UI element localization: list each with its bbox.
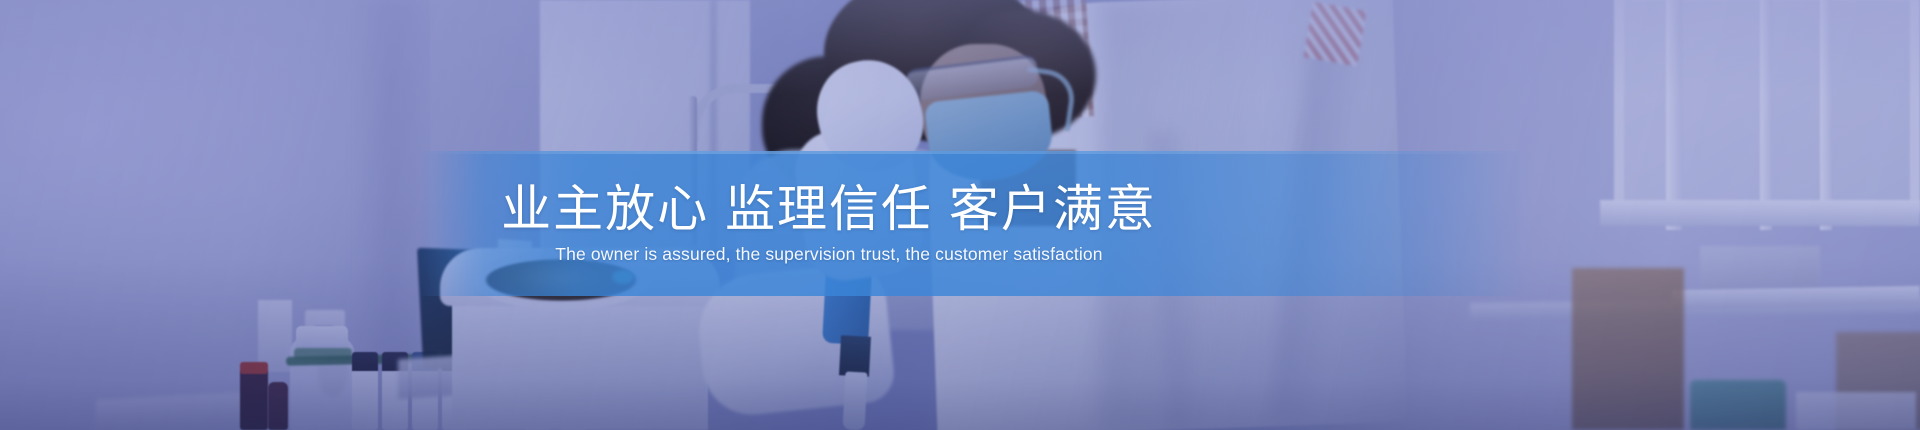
banner-copy: 业主放心 监理信任 客户满意 The owner is assured, the… [0,151,1789,296]
banner-headline: 业主放心 监理信任 客户满意 [501,183,1157,235]
hero-banner: 业主放心 监理信任 客户满意 The owner is assured, the… [0,0,1920,430]
banner-subheadline: The owner is assured, the supervision tr… [555,244,1102,265]
